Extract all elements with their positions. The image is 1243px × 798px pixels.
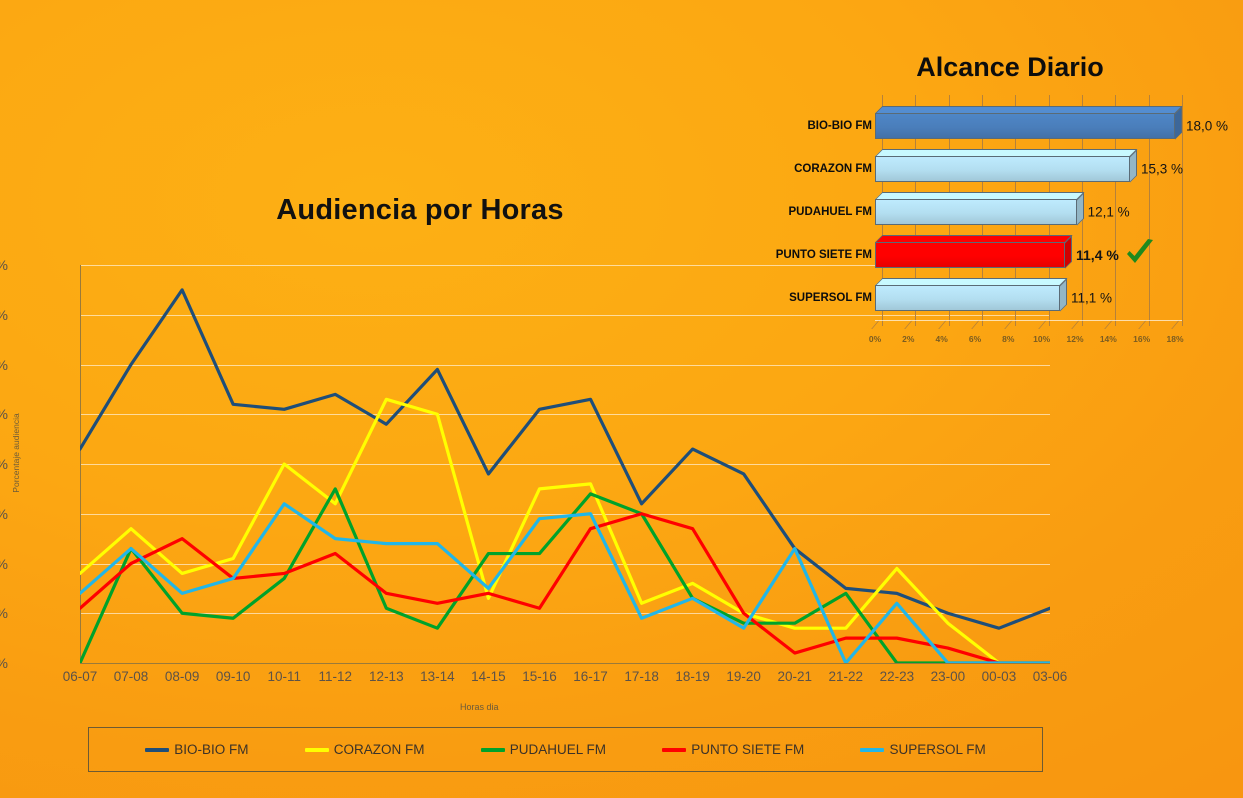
y-tick-label: 2% [0, 556, 8, 572]
bar-side-face [1060, 278, 1067, 311]
y-tick-label: 8% [0, 257, 8, 273]
line-series-corazon-fm [80, 399, 1050, 663]
bar-gridline-floor-edge [1038, 320, 1047, 329]
bar-punto-siete-fm[interactable] [875, 242, 1065, 268]
x-tick-label: 14-15 [471, 669, 506, 684]
bar-gridline-floor-edge [1138, 320, 1147, 329]
x-tick-label: 07-08 [114, 669, 149, 684]
x-tick-label: 12-13 [369, 669, 404, 684]
bar-x-tick-label: 18% [1166, 334, 1183, 344]
legend-swatch-icon [662, 748, 686, 752]
bar-x-tick-label: 14% [1100, 334, 1117, 344]
bar-supersol-fm[interactable] [875, 285, 1060, 311]
legend-item-corazon-fm[interactable]: CORAZON FM [305, 742, 425, 757]
bar-top-face [875, 149, 1137, 156]
bar-bio-bio-fm[interactable] [875, 113, 1175, 139]
x-axis-ticks: 06-0707-0808-0909-1010-1111-1212-1313-14… [80, 669, 1050, 691]
x-tick-label: 13-14 [420, 669, 455, 684]
y-tick-label: 4% [0, 456, 8, 472]
legend-item-punto-siete-fm[interactable]: PUNTO SIETE FM [662, 742, 804, 757]
bar-value-label: 15,3 % [1141, 162, 1183, 177]
bar-category-label: PUDAHUEL FM [692, 206, 872, 218]
line-chart-legend: BIO-BIO FMCORAZON FMPUDAHUEL FMPUNTO SIE… [88, 727, 1043, 772]
bar-side-face [1130, 149, 1137, 182]
legend-item-pudahuel-fm[interactable]: PUDAHUEL FM [481, 742, 606, 757]
x-tick-label: 03-06 [1033, 669, 1068, 684]
x-tick-label: 08-09 [165, 669, 200, 684]
bar-gridline-floor-edge [1005, 320, 1014, 329]
bar-axis-floor [875, 320, 1182, 321]
x-axis-title: Horas dia [460, 702, 499, 712]
alcance-diario-chart: Alcance Diario 0%2%4%6%8%10%12%14%16%18%… [740, 40, 1240, 360]
bar-x-tick-label: 12% [1066, 334, 1083, 344]
x-tick-label: 23-00 [931, 669, 966, 684]
bar-gridline-floor-edge [938, 320, 947, 329]
legend-label: PUNTO SIETE FM [691, 742, 804, 757]
x-tick-label: 10-11 [267, 669, 301, 684]
y-tick-label: 1% [0, 605, 8, 621]
legend-label: BIO-BIO FM [174, 742, 248, 757]
x-tick-label: 19-20 [726, 669, 761, 684]
y-tick-label: 3% [0, 506, 8, 522]
bar-category-label: PUNTO SIETE FM [692, 249, 872, 261]
y-tick-label: 6% [0, 357, 8, 373]
bar-side-face [1065, 235, 1072, 268]
x-tick-label: 11-12 [318, 669, 352, 684]
legend-swatch-icon [481, 748, 505, 752]
bar-chart-title: Alcance Diario [800, 52, 1220, 83]
legend-label: CORAZON FM [334, 742, 425, 757]
bar-gridline-floor-edge [871, 320, 880, 329]
x-tick-label: 20-21 [777, 669, 812, 684]
x-tick-label: 17-18 [624, 669, 659, 684]
x-tick-label: 21-22 [829, 669, 864, 684]
bar-x-tick-label: 2% [902, 334, 914, 344]
x-tick-label: 15-16 [522, 669, 557, 684]
bar-category-label: CORAZON FM [692, 163, 872, 175]
bar-gridline-floor-edge [971, 320, 980, 329]
legend-swatch-icon [145, 748, 169, 752]
bar-x-tick-label: 6% [969, 334, 981, 344]
x-tick-label: 18-19 [675, 669, 710, 684]
line-series-punto-siete-fm [80, 514, 1050, 663]
legend-label: SUPERSOL FM [889, 742, 985, 757]
legend-swatch-icon [305, 748, 329, 752]
bar-gridline-floor-edge [1105, 320, 1114, 329]
bar-x-tick-label: 8% [1002, 334, 1014, 344]
bar-value-label: 11,1 % [1071, 291, 1112, 306]
y-tick-label: 0% [0, 655, 8, 671]
bar-category-label: SUPERSOL FM [692, 292, 872, 304]
bar-gridline-floor-edge [905, 320, 914, 329]
bar-top-face [875, 106, 1182, 113]
bar-x-tick-label: 16% [1133, 334, 1150, 344]
bar-pudahuel-fm[interactable] [875, 199, 1077, 225]
bar-gridline-floor-edge [1171, 320, 1180, 329]
x-tick-label: 16-17 [573, 669, 608, 684]
x-tick-label: 06-07 [63, 669, 98, 684]
bar-top-face [875, 192, 1084, 199]
bar-corazon-fm[interactable] [875, 156, 1130, 182]
bar-gridline [1182, 95, 1183, 326]
y-tick-label: 7% [0, 307, 8, 323]
legend-item-bio-bio-fm[interactable]: BIO-BIO FM [145, 742, 248, 757]
legend-swatch-icon [860, 748, 884, 752]
x-tick-label: 09-10 [216, 669, 251, 684]
y-tick-label: 5% [0, 406, 8, 422]
bar-x-tick-label: 4% [936, 334, 948, 344]
legend-label: PUDAHUEL FM [510, 742, 606, 757]
bar-value-label: 11,4 % [1076, 247, 1119, 263]
bar-top-face [875, 235, 1072, 242]
bar-top-face [875, 278, 1067, 285]
bar-x-tick-label: 10% [1033, 334, 1050, 344]
x-tick-label: 00-03 [982, 669, 1017, 684]
bar-x-tick-label: 0% [869, 334, 881, 344]
bar-plot-area: 0%2%4%6%8%10%12%14%16%18%BIO-BIO FM18,0 … [740, 95, 1240, 345]
x-tick-label: 22-23 [880, 669, 915, 684]
x-axis-line [80, 663, 1050, 664]
bar-side-face [1175, 106, 1182, 139]
bar-gridline-floor-edge [1071, 320, 1080, 329]
bar-category-label: BIO-BIO FM [692, 120, 872, 132]
bar-value-label: 18,0 % [1186, 119, 1228, 134]
legend-item-supersol-fm[interactable]: SUPERSOL FM [860, 742, 985, 757]
green-check-icon [1123, 236, 1157, 270]
bar-value-label: 12,1 % [1088, 205, 1130, 220]
